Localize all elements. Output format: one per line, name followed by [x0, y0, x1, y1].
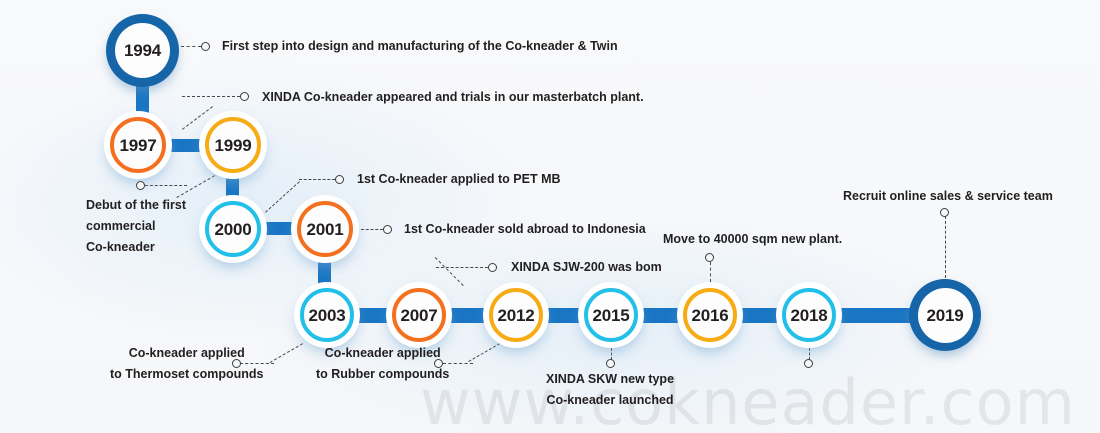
leader-marker-1997 [136, 181, 145, 190]
leader-marker-2015 [606, 359, 615, 368]
timeline-node-2018[interactable]: 2018 [776, 282, 842, 348]
timeline-node-2019[interactable]: 2019 [909, 279, 981, 351]
timeline-node-1994[interactable]: 1994 [106, 14, 179, 87]
timeline-node-2001[interactable]: 2001 [291, 195, 359, 263]
node-year-label: 1997 [119, 137, 156, 154]
node-ring-2019: 2019 [918, 288, 973, 343]
node-year-label: 2018 [790, 307, 827, 324]
event-note-1997: Debut of the first commercial Co-kneader [86, 195, 186, 258]
leader-marker-2019 [940, 208, 949, 217]
event-note-2019: Recruit online sales & service team [843, 186, 1053, 207]
event-note-2003-line2: to Thermoset compounds [110, 367, 263, 381]
node-year-label: 2019 [926, 307, 963, 324]
node-year-label: 1994 [124, 42, 161, 59]
event-note-2007-line2: to Rubber compounds [316, 367, 449, 381]
event-note-2000: 1st Co-kneader applied to PET MB [357, 169, 561, 190]
node-year-label: 2001 [306, 221, 343, 238]
node-ring-1999: 1999 [205, 117, 261, 173]
leader-marker-1999 [240, 92, 249, 101]
timeline-node-2003[interactable]: 2003 [294, 282, 360, 348]
event-note-1999: XINDA Co-kneader appeared and trials in … [262, 87, 644, 108]
leader-line-1997 [145, 185, 187, 186]
node-ring-1994: 1994 [115, 23, 170, 78]
node-ring-1997: 1997 [110, 117, 166, 173]
timeline-node-1999[interactable]: 1999 [199, 111, 267, 179]
leader-line-2000 [299, 179, 335, 180]
leader-marker-2016 [705, 253, 714, 262]
node-ring-2016: 2016 [683, 288, 737, 342]
leader-marker-2001 [383, 225, 392, 234]
timeline-infographic: 1994 1997 1999 2000 2001 2003 2007 [0, 0, 1100, 433]
leader-marker-1994 [201, 42, 210, 51]
node-year-label: 2007 [400, 307, 437, 324]
timeline-node-2015[interactable]: 2015 [578, 282, 644, 348]
leader-marker-2012 [488, 263, 497, 272]
node-year-label: 2000 [214, 221, 251, 238]
event-note-2015-line2: Co-kneader launched [546, 393, 673, 407]
node-year-label: 2003 [308, 307, 345, 324]
timeline-node-1997[interactable]: 1997 [104, 111, 172, 179]
event-note-2001: 1st Co-kneader sold abroad to Indonesia [404, 219, 646, 240]
node-year-label: 1999 [214, 137, 251, 154]
node-ring-2007: 2007 [392, 288, 446, 342]
node-year-label: 2015 [592, 307, 629, 324]
timeline-node-2007[interactable]: 2007 [386, 282, 452, 348]
leader-line-2019 [945, 216, 946, 278]
event-note-2012: XINDA SJW-200 was bom [511, 257, 662, 278]
node-year-label: 2012 [497, 307, 534, 324]
event-note-2007-line1: Co-kneader applied [325, 346, 441, 360]
node-ring-2000: 2000 [205, 201, 261, 257]
event-note-2007: Co-kneader applied to Rubber compounds [316, 343, 449, 385]
node-ring-2018: 2018 [782, 288, 836, 342]
node-ring-2015: 2015 [584, 288, 638, 342]
node-ring-2001: 2001 [297, 201, 353, 257]
event-note-1997-line3: Co-kneader [86, 240, 155, 254]
event-note-2003: Co-kneader applied to Thermoset compound… [110, 343, 263, 385]
leader-line-2001 [361, 229, 383, 230]
node-ring-2003: 2003 [300, 288, 354, 342]
event-note-1994: First step into design and manufacturing… [222, 36, 618, 57]
node-ring-2012: 2012 [489, 288, 543, 342]
timeline-node-2000[interactable]: 2000 [199, 195, 267, 263]
leader-line-2016 [710, 262, 711, 282]
timeline-node-2012[interactable]: 2012 [483, 282, 549, 348]
leader-line-1999 [182, 96, 240, 97]
timeline-node-2016[interactable]: 2016 [677, 282, 743, 348]
event-note-2003-line1: Co-kneader applied [129, 346, 245, 360]
leader-marker-2000 [335, 175, 344, 184]
leader-line-1994 [181, 46, 201, 47]
event-note-1997-line2: commercial [86, 219, 155, 233]
event-note-1997-line1: Debut of the first [86, 198, 186, 212]
leader-line-2012 [436, 267, 488, 268]
event-note-2015: XINDA SKW new type Co-kneader launched [546, 369, 674, 411]
leader-marker-2018 [804, 359, 813, 368]
event-note-2016: Move to 40000 sqm new plant. [663, 229, 842, 250]
event-note-2015-line1: XINDA SKW new type [546, 372, 674, 386]
node-year-label: 2016 [691, 307, 728, 324]
